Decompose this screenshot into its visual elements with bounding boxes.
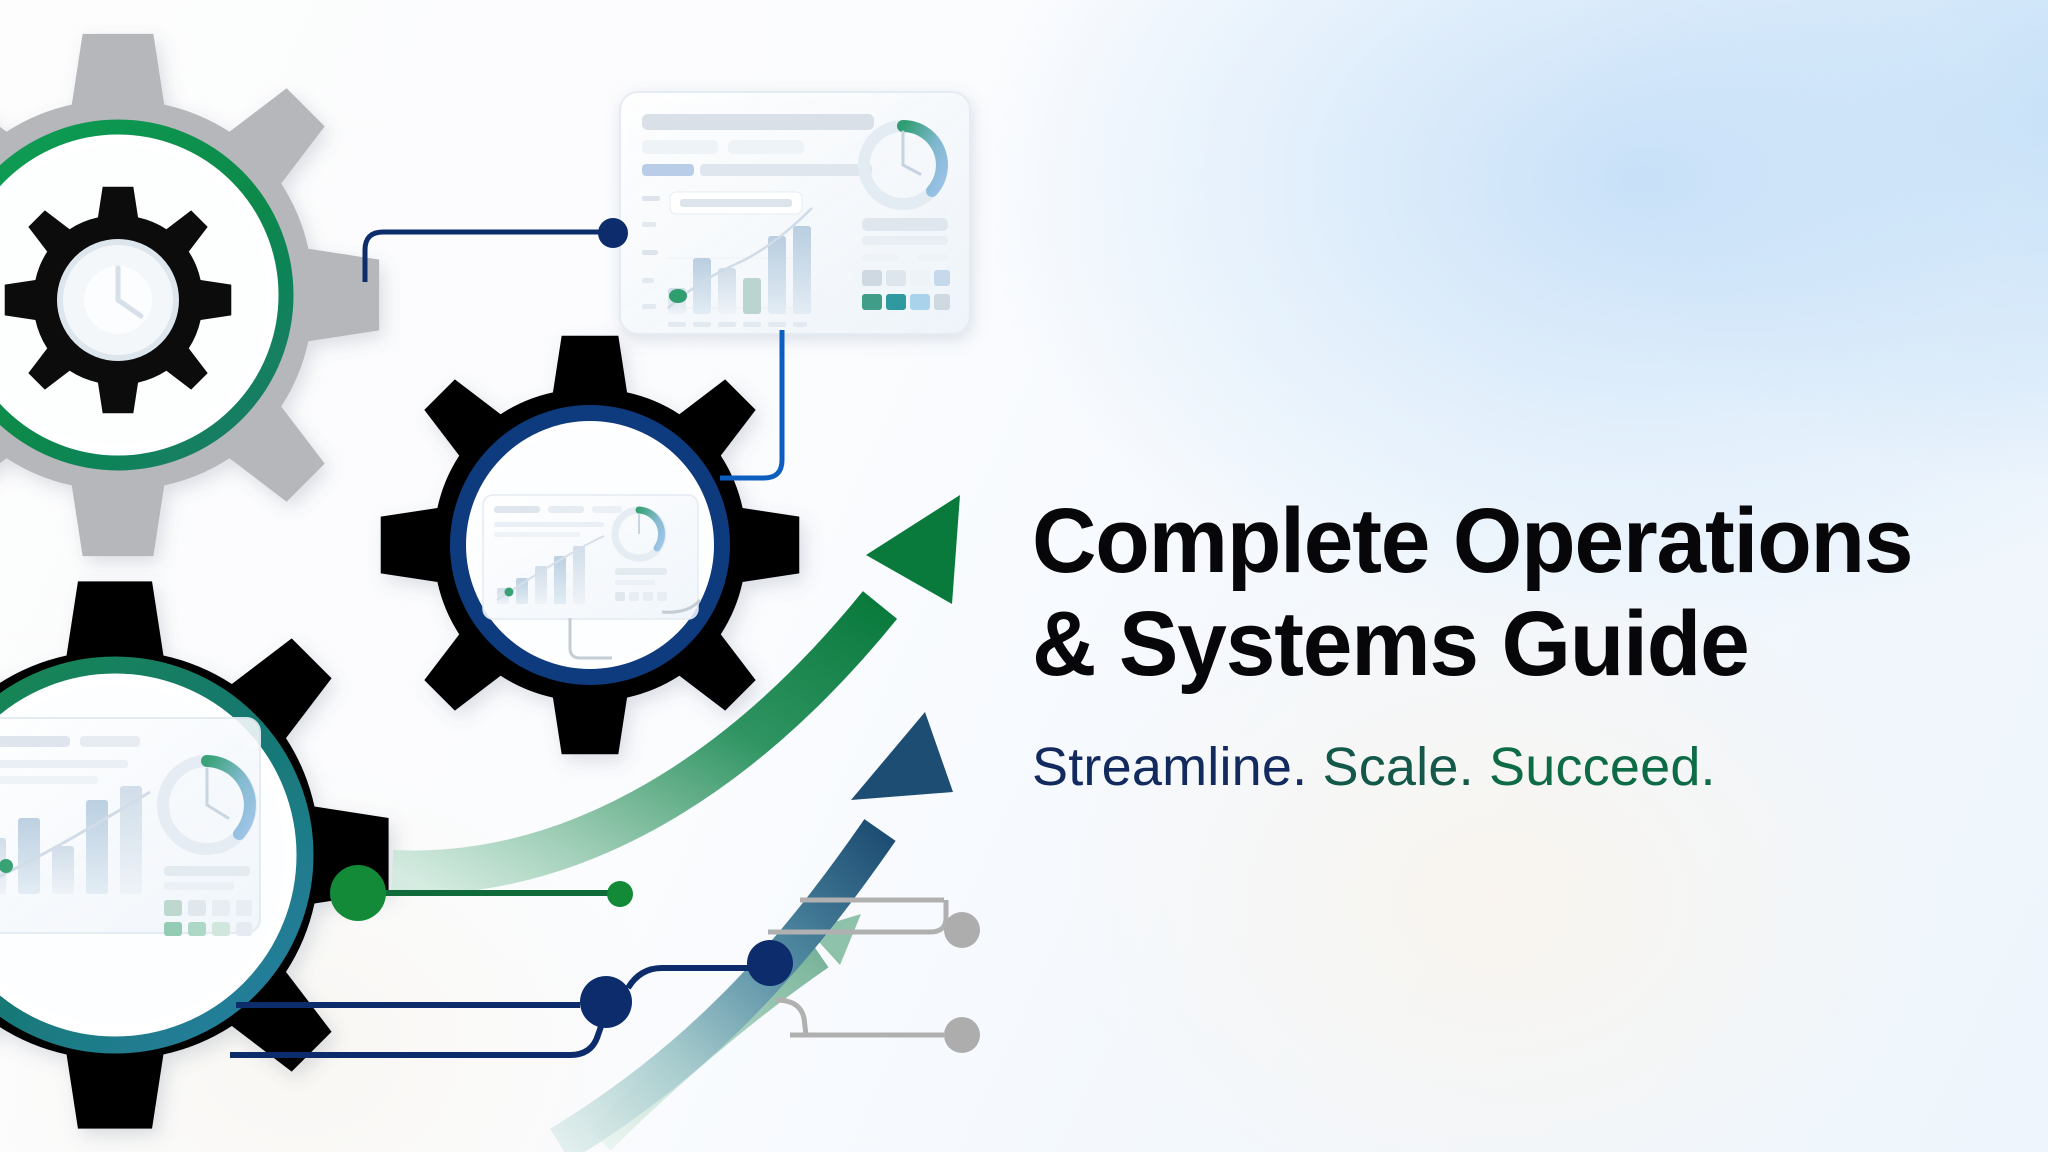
node-gray-upper <box>944 912 980 948</box>
headline-line-2: & Systems Guide <box>1032 593 1749 695</box>
node-navy-card-anchor <box>598 218 628 248</box>
node-green-small <box>607 881 633 907</box>
dashboard-mini-slate <box>0 718 260 936</box>
node-navy-upper <box>747 940 793 986</box>
analytics-dashboard-card <box>620 92 970 334</box>
tagline-word-streamline: Streamline. <box>1032 737 1307 797</box>
dashboard-mini-blue <box>483 495 698 619</box>
node-navy-junction <box>580 976 632 1028</box>
gear-gray-inner <box>5 187 232 414</box>
page-title: Complete Operations & Systems Guide <box>1032 490 1992 696</box>
arrow-growth-secondary <box>560 712 953 1145</box>
tagline-word-succeed: Succeed. <box>1489 737 1716 797</box>
trace-gear-to-card <box>365 232 600 282</box>
tagline-word-scale: Scale. <box>1323 737 1474 797</box>
hero-banner: Complete Operations & Systems Guide Stre… <box>0 0 2048 1152</box>
hero-text-block: Complete Operations & Systems Guide Stre… <box>1032 490 2022 798</box>
node-green-primary <box>330 865 386 921</box>
hero-tagline: Streamline. Scale. Succeed. <box>1032 736 2022 798</box>
node-gray-lower <box>944 1017 980 1053</box>
headline-line-1: Complete Operations <box>1032 490 1912 592</box>
